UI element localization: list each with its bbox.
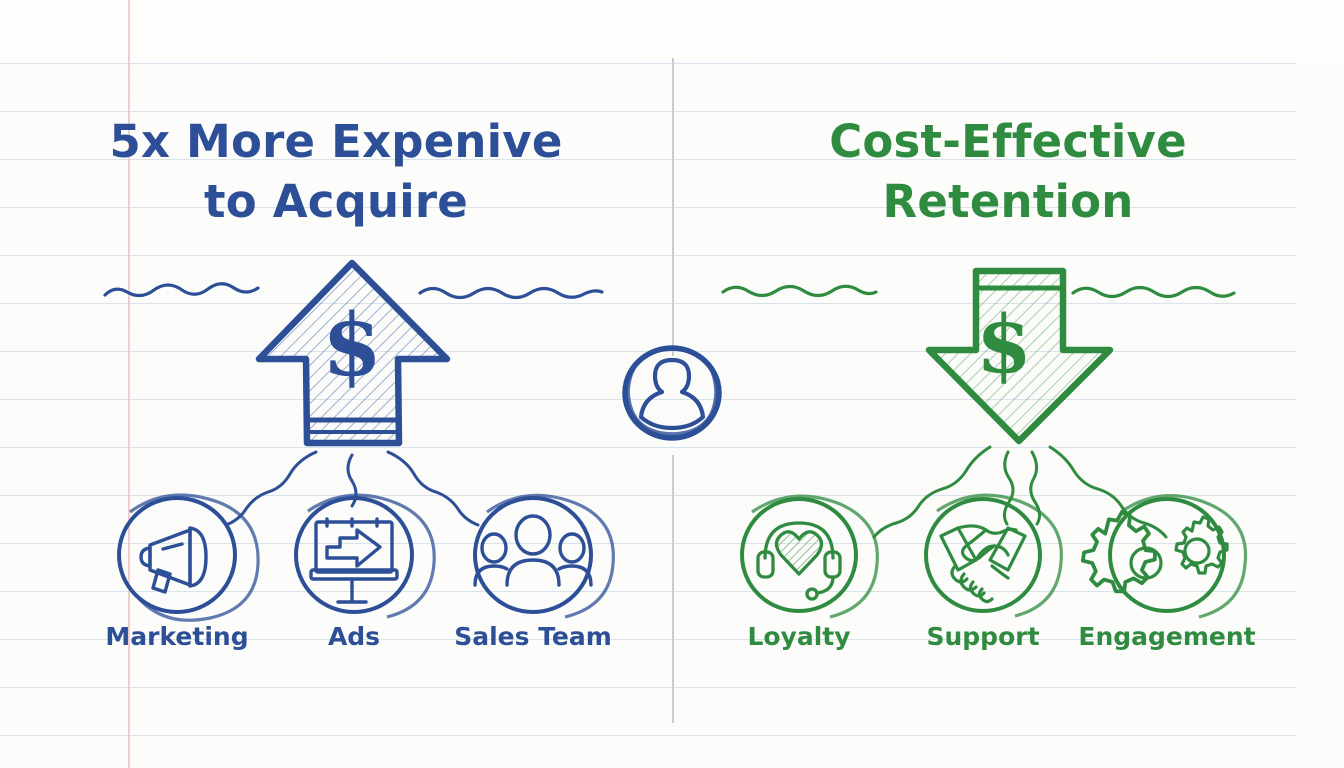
left-title-line-1: 5x More Expenive bbox=[0, 112, 672, 172]
right-title-line-1: Cost-Effective bbox=[672, 112, 1344, 172]
right-panel: Cost-Effective Retention bbox=[672, 0, 1344, 768]
left-panel-title: 5x More Expenive to Acquire bbox=[0, 112, 672, 232]
left-panel: 5x More Expenive to Acquire bbox=[0, 0, 672, 768]
infographic-canvas: 5x More Expenive to Acquire Cost-Effecti… bbox=[0, 0, 1344, 768]
left-title-line-2: to Acquire bbox=[0, 172, 672, 232]
caption-sales-team: Sales Team bbox=[423, 622, 643, 651]
right-panel-title: Cost-Effective Retention bbox=[672, 112, 1344, 232]
caption-engagement: Engagement bbox=[1057, 622, 1277, 651]
right-title-line-2: Retention bbox=[672, 172, 1344, 232]
